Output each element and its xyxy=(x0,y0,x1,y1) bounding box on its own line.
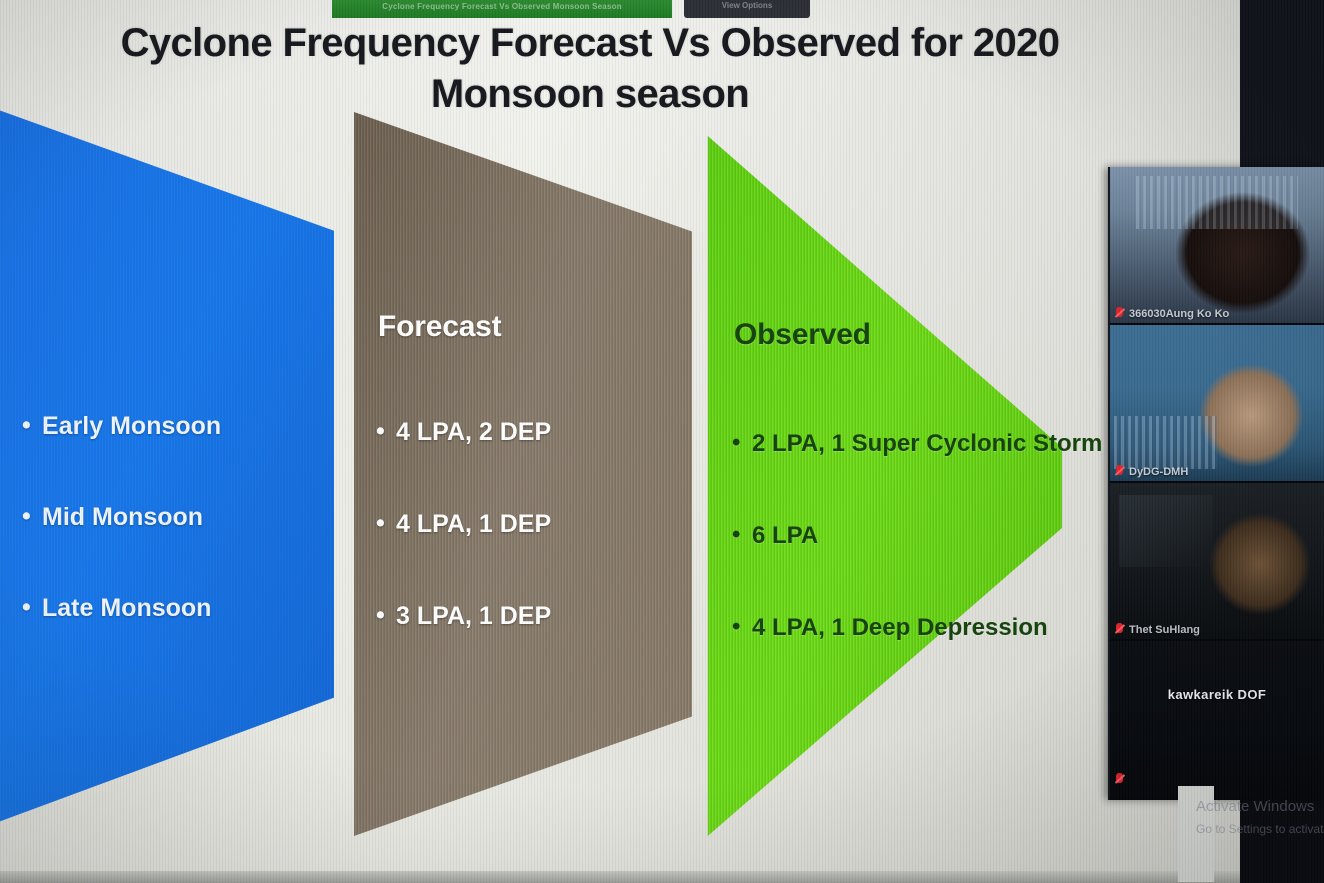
slide-title: Cyclone Frequency Forecast Vs Observed f… xyxy=(40,18,1140,120)
video-feed-camera-off xyxy=(1110,641,1324,797)
screenshot-root: Cyclone Frequency Forecast Vs Observed M… xyxy=(0,0,1324,883)
participant-namebar xyxy=(1110,772,1129,787)
video-call-filmstrip[interactable]: 366030Aung Ko Ko DyDG-DMH Thet SuHlang k… xyxy=(1108,167,1324,800)
list-item: Mid Monsoon xyxy=(20,503,350,532)
mic-muted-icon xyxy=(1115,623,1124,636)
top-right-dark-corner xyxy=(1240,0,1324,168)
participant-namebar: Thet SuHlang xyxy=(1110,622,1205,637)
list-item: 4 LPA, 1 Deep Depression xyxy=(730,614,1150,642)
observed-list: 2 LPA, 1 Super Cyclonic Storm 6 LPA 4 LP… xyxy=(730,430,1150,706)
mic-muted-icon xyxy=(1115,773,1124,786)
view-options-label: View Options xyxy=(684,0,810,18)
forecast-list: 4 LPA, 2 DEP 4 LPA, 1 DEP 3 LPA, 1 DEP xyxy=(374,418,704,694)
list-item: 2 LPA, 1 Super Cyclonic Storm xyxy=(730,430,1150,458)
list-item: 6 LPA xyxy=(730,522,1150,550)
slide-title-line-2: Monsoon season xyxy=(40,69,1140,120)
participant-name: kawkareik DOF xyxy=(1110,687,1324,702)
observed-heading: Observed xyxy=(734,318,871,352)
video-tile[interactable]: kawkareik DOF xyxy=(1110,641,1324,799)
video-tile[interactable]: Thet SuHlang xyxy=(1110,483,1324,641)
video-feed xyxy=(1110,167,1324,323)
participant-name: 366030Aung Ko Ko xyxy=(1129,308,1229,320)
screen-bottom-bezel xyxy=(0,871,1242,883)
list-item: 3 LPA, 1 DEP xyxy=(374,602,704,631)
meeting-toolbar-strip: Cyclone Frequency Forecast Vs Observed M… xyxy=(0,0,1242,20)
projected-slide-screen: Cyclone Frequency Forecast Vs Observed M… xyxy=(0,0,1242,883)
view-options-button[interactable]: View Options xyxy=(684,0,810,18)
toolbar-green-banner: Cyclone Frequency Forecast Vs Observed M… xyxy=(332,0,672,18)
mic-muted-icon xyxy=(1115,307,1124,320)
list-item: 4 LPA, 2 DEP xyxy=(374,418,704,447)
watermark-line-1: Activate Windows xyxy=(1196,798,1324,815)
participant-name: DyDG-DMH xyxy=(1129,466,1188,478)
video-tile[interactable]: 366030Aung Ko Ko xyxy=(1110,167,1324,325)
forecast-heading: Forecast xyxy=(378,310,501,344)
windows-activation-watermark: Activate Windows Go to Settings to activ… xyxy=(1196,798,1324,836)
participant-namebar: 366030Aung Ko Ko xyxy=(1110,306,1234,321)
mic-muted-icon xyxy=(1115,465,1124,478)
watermark-line-2: Go to Settings to activate Windows xyxy=(1196,822,1324,836)
toolbar-green-banner-label: Cyclone Frequency Forecast Vs Observed M… xyxy=(332,0,672,18)
video-tile[interactable]: DyDG-DMH xyxy=(1110,325,1324,483)
video-feed xyxy=(1110,325,1324,481)
list-item: Early Monsoon xyxy=(20,412,350,441)
list-item: Late Monsoon xyxy=(20,594,350,623)
monsoon-period-list: Early Monsoon Mid Monsoon Late Monsoon xyxy=(20,412,350,685)
participant-name: Thet SuHlang xyxy=(1129,624,1200,636)
list-item: 4 LPA, 1 DEP xyxy=(374,510,704,539)
slide-title-line-1: Cyclone Frequency Forecast Vs Observed f… xyxy=(40,18,1140,69)
participant-namebar: DyDG-DMH xyxy=(1110,464,1193,479)
video-feed xyxy=(1110,483,1324,639)
